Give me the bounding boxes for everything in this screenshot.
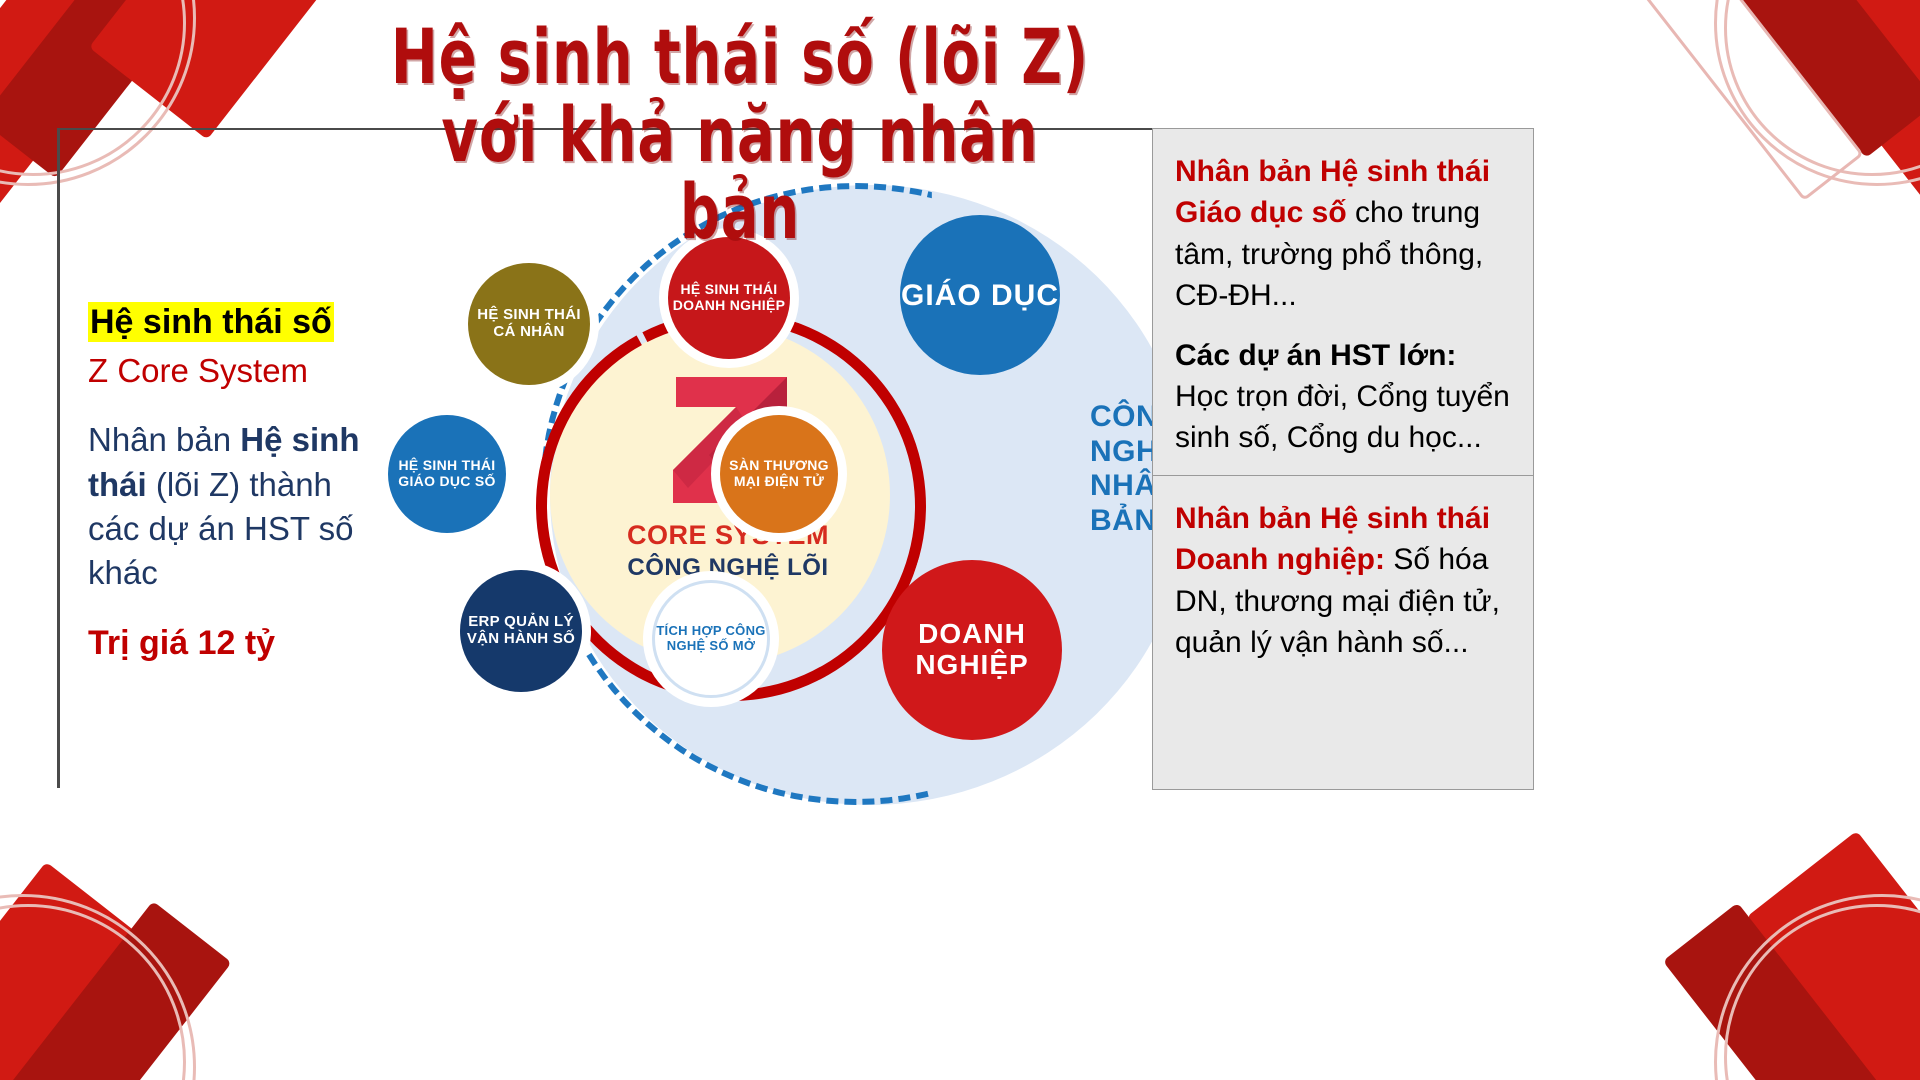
corner-decoration-top-right: [1590, 0, 1920, 330]
ecosystem-diagram: CORE SYSTEM CÔNG NGHỆ LÕI HỆ SINH THÁI C…: [400, 175, 1160, 835]
outcome-circle-doanh-nghiep[interactable]: DOANH NGHIỆP: [882, 560, 1062, 740]
bubble-label: TÍCH HỢP CÔNG NGHỆ SỐ MỞ: [655, 624, 767, 653]
bubble-tich-hop-cong-nghe-so-mo[interactable]: TÍCH HỢP CÔNG NGHỆ SỐ MỞ: [652, 580, 770, 698]
right-paragraph: Nhân bản Hệ sinh thái Doanh nghiệp: Số h…: [1175, 498, 1511, 664]
bubble-label: HỆ SINH THÁI DOANH NGHIỆP: [668, 282, 790, 313]
corner-decoration-bottom-left: [0, 750, 330, 1080]
left-body-text: Nhân bản Hệ sinh thái (lõi Z) thành các …: [88, 418, 388, 595]
right-paragraph: Nhân bản Hệ sinh thái Giáo dục số cho tr…: [1175, 151, 1511, 317]
bubble-label: HỆ SINH THÁI CÁ NHÂN: [468, 307, 590, 341]
title-line-2: với khả năng nhân bản: [379, 96, 1101, 251]
left-text-panel: Hệ sinh thái số Z Core System Nhân bản H…: [88, 300, 388, 666]
bubble-label: SÀN THƯƠNG MẠI ĐIỆN TỬ: [720, 458, 838, 489]
left-headline: Hệ sinh thái số: [88, 300, 388, 345]
bubble-san-thuong-mai-dien-tu[interactable]: SÀN THƯƠNG MẠI ĐIỆN TỬ: [720, 415, 838, 533]
bubble-erp-quan-ly-van-hanh-so[interactable]: ERP QUẢN LÝ VẬN HÀNH SỐ: [460, 570, 582, 692]
right-paragraph: Các dự án HST lớn: Học trọn đời, Cổng tu…: [1175, 335, 1511, 459]
right-section-doanh-nghiep: Nhân bản Hệ sinh thái Doanh nghiệp: Số h…: [1153, 476, 1533, 680]
right-info-panel: Nhân bản Hệ sinh thái Giáo dục số cho tr…: [1152, 128, 1534, 790]
core-label-en: CORE SYSTEM: [578, 520, 878, 551]
slide-canvas: Hệ sinh thái số (lõi Z) với khả năng nhâ…: [0, 0, 1920, 1080]
corner-decoration-bottom-right: [1590, 750, 1920, 1080]
corner-decoration-top-left: [0, 0, 330, 330]
left-headline-highlight: Hệ sinh thái số: [88, 302, 334, 342]
bubble-he-sinh-thai-ca-nhan[interactable]: HỆ SINH THÁI CÁ NHÂN: [468, 263, 590, 385]
right-paragraph-bold: Các dự án HST lớn:: [1175, 339, 1456, 372]
page-title: Hệ sinh thái số (lõi Z) với khả năng nhâ…: [379, 18, 1101, 251]
outcome-label: GIÁO DỤC: [901, 279, 1059, 312]
left-subtitle: Z Core System: [88, 349, 388, 393]
left-price-value: Trị giá 12 tỷ: [88, 621, 388, 666]
core-label-group: CORE SYSTEM CÔNG NGHỆ LÕI: [578, 520, 878, 582]
bubble-label: ERP QUẢN LÝ VẬN HÀNH SỐ: [460, 614, 582, 648]
right-section-giao-duc: Nhân bản Hệ sinh thái Giáo dục số cho tr…: [1153, 129, 1533, 475]
title-line-1: Hệ sinh thái số (lõi Z): [391, 12, 1089, 101]
core-label-vi: CÔNG NGHỆ LÕI: [578, 554, 878, 582]
bubble-label: HỆ SINH THÁI GIÁO DỤC SỐ: [388, 458, 506, 489]
frame-left-rule: [57, 128, 60, 788]
left-body-part-1: Nhân bản: [88, 421, 240, 458]
bubble-he-sinh-thai-giao-duc-so[interactable]: HỆ SINH THÁI GIÁO DỤC SỐ: [388, 415, 506, 533]
outcome-label: DOANH NGHIỆP: [882, 619, 1062, 681]
right-paragraph-normal: Học trọn đời, Cổng tuyển sinh số, Cổng d…: [1175, 380, 1510, 454]
